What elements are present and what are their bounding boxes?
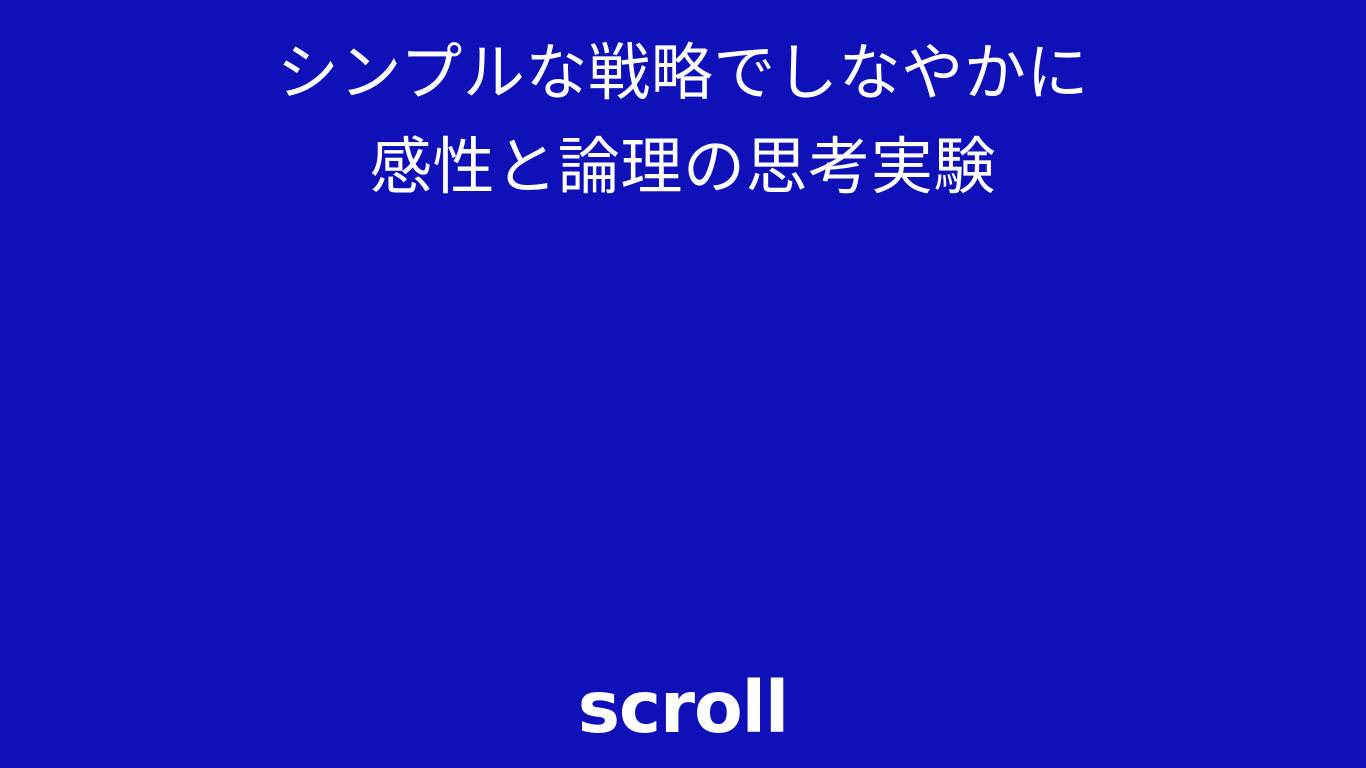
slide-headline: シンプルな戦略でしなやかに 感性と論理の思考実験: [0, 26, 1366, 214]
brand-logo: scroll: [0, 666, 1366, 750]
presentation-slide: シンプルな戦略でしなやかに 感性と論理の思考実験 scroll: [0, 0, 1366, 768]
slide-body-area: [0, 230, 1366, 660]
brand-wordmark-text: scroll: [578, 666, 788, 750]
headline-line-1: シンプルな戦略でしなやかに: [0, 26, 1366, 120]
headline-line-2: 感性と論理の思考実験: [0, 120, 1366, 214]
